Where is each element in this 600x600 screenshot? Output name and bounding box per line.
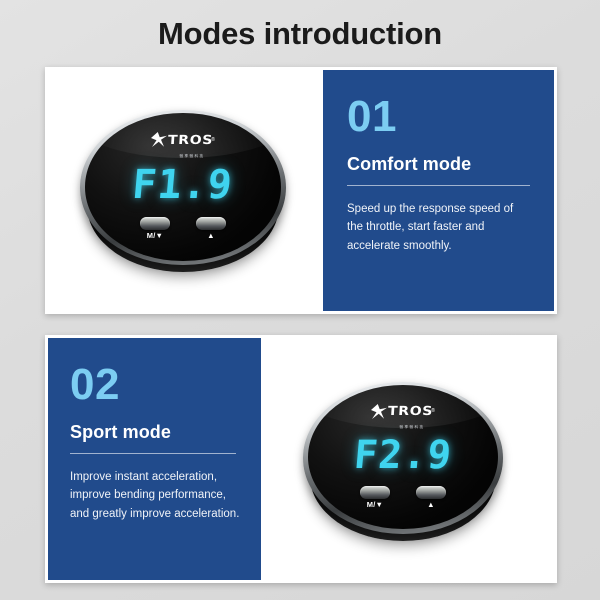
mode-down-button[interactable]: M/▼ <box>140 217 170 240</box>
logo-text: TROS <box>168 134 214 147</box>
mode-up-button-label: ▲ <box>207 232 215 240</box>
button-cap[interactable] <box>140 217 170 230</box>
mode-up-button[interactable]: ▲ <box>416 486 446 509</box>
mode-title: Sport mode <box>70 422 241 443</box>
registered-mark-icon: ® <box>431 408 435 414</box>
device-face: TROS ® 驰享驰科技 F2.9 M/▼ ▲ <box>308 385 498 529</box>
registered-mark-icon: ® <box>211 137 215 143</box>
mode-number: 01 <box>347 96 530 138</box>
mode-number: 02 <box>70 364 241 406</box>
mode-title: Comfort mode <box>347 154 530 175</box>
device-buttons: M/▼ ▲ <box>308 486 498 509</box>
led-display-value: F1.9 <box>85 162 280 208</box>
button-cap[interactable] <box>196 217 226 230</box>
mode-description: Speed up the response speed of the throt… <box>347 200 530 256</box>
mode-card-comfort: TROS ® 驰享驰科技 F1.9 M/▼ ▲ <box>45 67 557 314</box>
button-cap[interactable] <box>416 486 446 499</box>
xtros-logo: TROS ® <box>308 404 498 419</box>
throttle-controller-device: TROS ® 驰享驰科技 F1.9 M/▼ ▲ <box>69 105 297 285</box>
device-buttons: M/▼ ▲ <box>85 217 280 240</box>
mode-up-button[interactable]: ▲ <box>196 217 226 240</box>
star-icon <box>371 404 387 419</box>
title-divider <box>347 185 530 186</box>
star-icon <box>151 132 167 147</box>
device-pane: TROS ® 驰享驰科技 F2.9 M/▼ ▲ <box>264 335 557 583</box>
page-root: Modes introduction TROS ® 驰享驰科技 F1.9 <box>0 0 600 600</box>
led-display-value: F2.9 <box>308 433 498 478</box>
title-divider <box>70 453 236 454</box>
mode-card-sport: 02 Sport mode Improve instant accelerati… <box>45 335 557 583</box>
page-title: Modes introduction <box>0 16 600 52</box>
device-pane: TROS ® 驰享驰科技 F1.9 M/▼ ▲ <box>45 67 320 314</box>
mode-down-button-label: M/▼ <box>147 232 163 240</box>
logo-text: TROS <box>388 405 434 418</box>
mode-description: Improve instant acceleration, improve be… <box>70 468 241 524</box>
mode-info-pane: 02 Sport mode Improve instant accelerati… <box>45 335 264 583</box>
button-cap[interactable] <box>360 486 390 499</box>
xtros-logo: TROS ® <box>85 132 280 147</box>
mode-up-button-label: ▲ <box>427 501 435 509</box>
mode-info-pane: 01 Comfort mode Speed up the response sp… <box>320 67 557 314</box>
throttle-controller-device: TROS ® 驰享驰科技 F2.9 M/▼ ▲ <box>292 377 514 553</box>
device-face: TROS ® 驰享驰科技 F1.9 M/▼ ▲ <box>85 113 280 261</box>
logo-subtext: 驰享驰科技 <box>317 425 498 430</box>
mode-down-button[interactable]: M/▼ <box>360 486 390 509</box>
mode-down-button-label: M/▼ <box>367 501 383 509</box>
logo-subtext: 驰享驰科技 <box>94 154 280 159</box>
